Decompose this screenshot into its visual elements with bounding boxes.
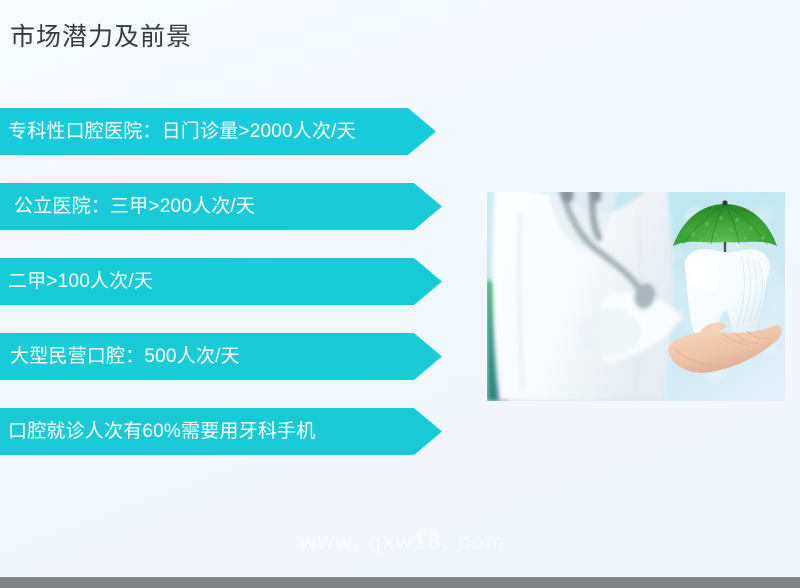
banner-arrow-shape: 口腔就诊人次有60%需要用牙科手机 <box>0 408 442 455</box>
slide-canvas: 市场潜力及前景 专科性口腔医院：日门诊量>2000人次/天 公立医院：三甲>20… <box>0 0 800 588</box>
list-item[interactable]: 专科性口腔医院：日门诊量>2000人次/天 <box>0 108 450 155</box>
list-item[interactable]: 大型民营口腔：500人次/天 <box>0 333 450 380</box>
banner-list: 专科性口腔医院：日门诊量>2000人次/天 公立医院：三甲>200人次/天 二甲… <box>0 108 450 483</box>
watermark-text: www. qxw18. com <box>300 529 506 555</box>
banner-label: 大型民营口腔：500人次/天 <box>0 333 240 380</box>
page-title: 市场潜力及前景 <box>10 20 192 54</box>
list-item[interactable]: 公立医院：三甲>200人次/天 <box>0 183 450 230</box>
banner-arrow-shape: 大型民营口腔：500人次/天 <box>0 333 442 380</box>
banner-arrow-shape: 专科性口腔医院：日门诊量>2000人次/天 <box>0 108 436 155</box>
banner-label: 专科性口腔医院：日门诊量>2000人次/天 <box>0 108 356 155</box>
banner-arrow-shape: 二甲>100人次/天 <box>0 258 442 305</box>
banner-label: 二甲>100人次/天 <box>0 258 153 305</box>
banner-label: 口腔就诊人次有60%需要用牙科手机 <box>0 408 315 455</box>
banner-label: 公立医院：三甲>200人次/天 <box>0 183 255 230</box>
bottom-bar <box>0 577 800 588</box>
dentist-tooth-umbrella-photo <box>487 192 785 401</box>
list-item[interactable]: 二甲>100人次/天 <box>0 258 450 305</box>
list-item[interactable]: 口腔就诊人次有60%需要用牙科手机 <box>0 408 450 455</box>
banner-arrow-shape: 公立医院：三甲>200人次/天 <box>0 183 442 230</box>
